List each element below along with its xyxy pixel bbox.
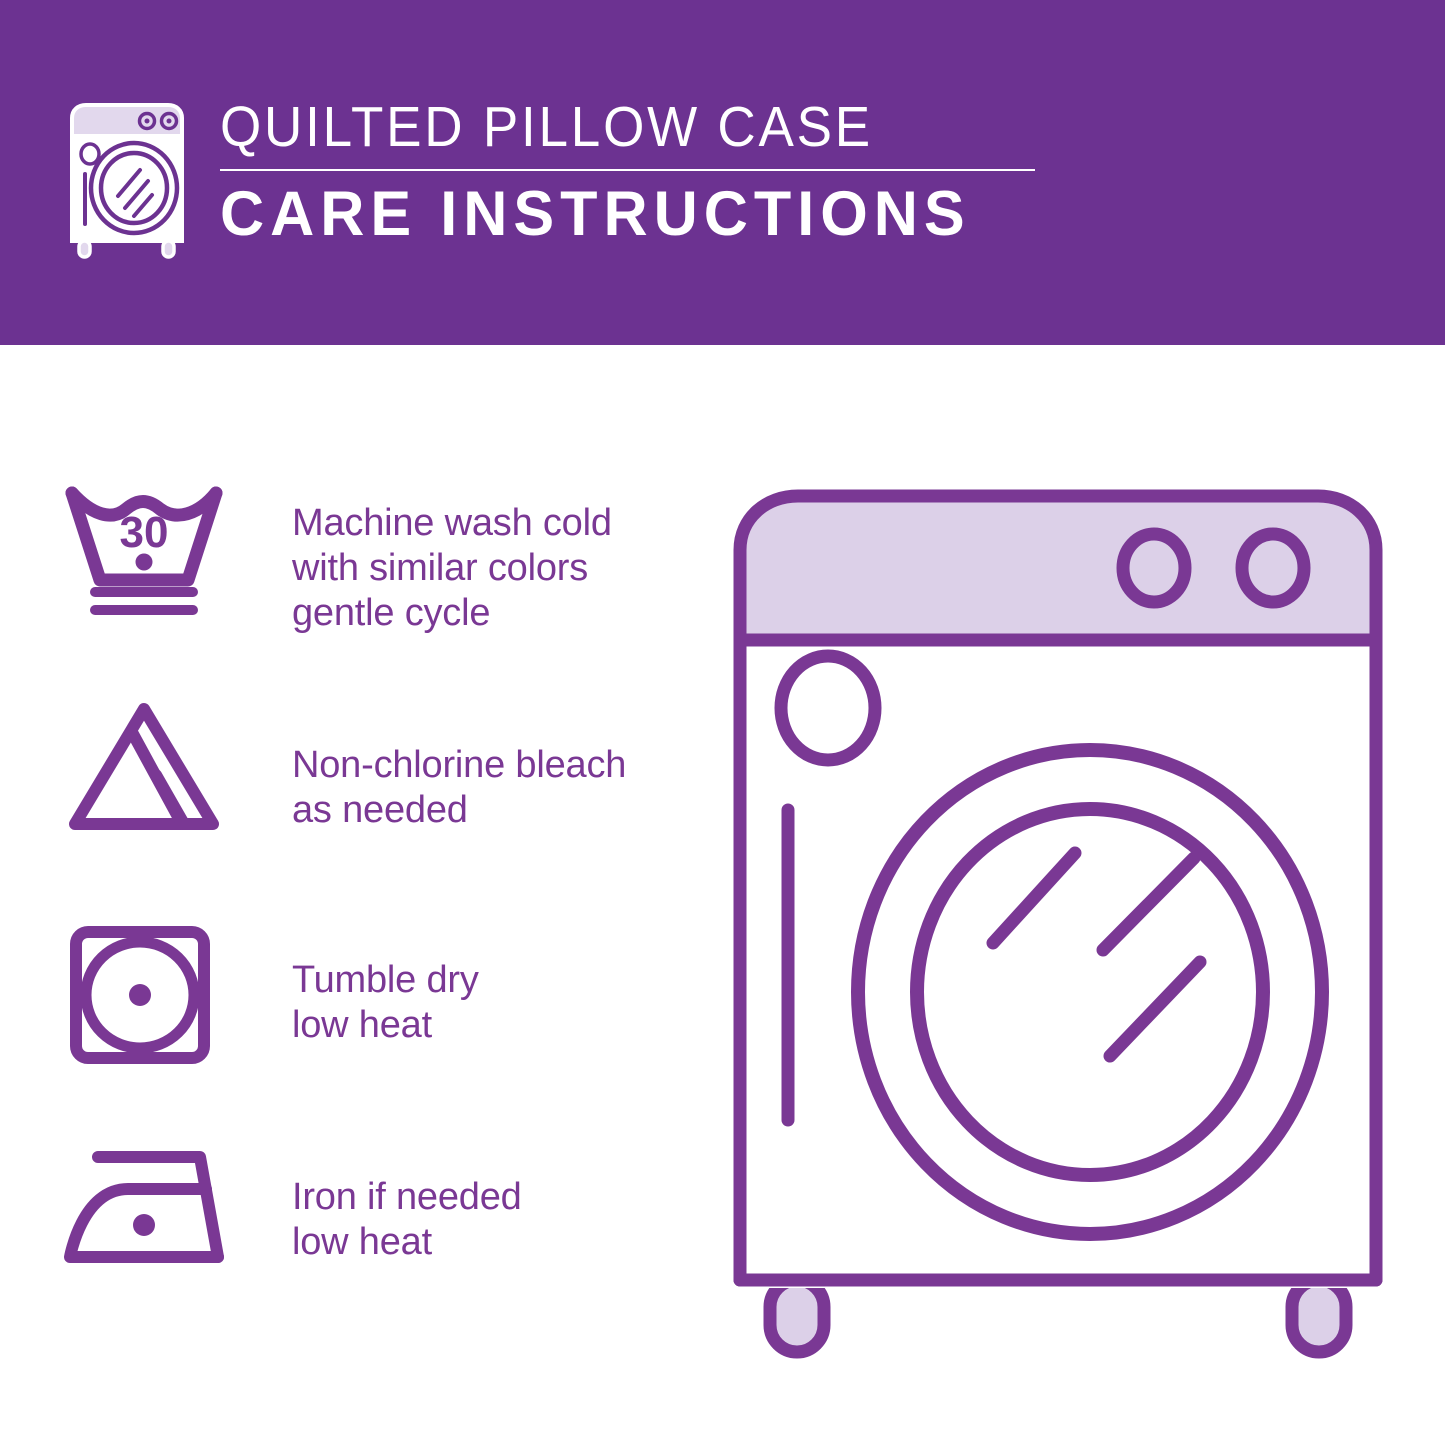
list-item: Non-chlorine bleach as needed xyxy=(60,697,700,912)
tumble-dry-icon xyxy=(60,920,260,1100)
care-line: with similar colors xyxy=(292,546,700,591)
machine-foot-right xyxy=(1292,1280,1346,1352)
care-line: low heat xyxy=(292,1220,700,1265)
list-item: Iron if needed low heat xyxy=(60,1137,700,1352)
body-area: 30 Machine wash cold with similar colors… xyxy=(0,345,1445,1445)
care-line: as needed xyxy=(292,788,700,833)
care-line: Machine wash cold xyxy=(292,501,700,546)
care-line: Non-chlorine bleach xyxy=(292,743,700,788)
machine-foot-left xyxy=(770,1280,824,1352)
care-line: gentle cycle xyxy=(292,591,700,636)
care-line: Tumble dry xyxy=(292,958,700,1003)
wash-temperature-label: 30 xyxy=(120,508,169,557)
control-knob-left xyxy=(1123,534,1185,602)
iron-icon xyxy=(60,1137,260,1317)
header-band: QUILTED PILLOW CASE CARE INSTRUCTIONS xyxy=(0,0,1445,345)
header-title-block: QUILTED PILLOW CASE CARE INSTRUCTIONS xyxy=(220,92,1040,251)
care-instruction-text: Machine wash cold with similar colors ge… xyxy=(260,475,700,636)
page-title-product: QUILTED PILLOW CASE xyxy=(220,92,983,162)
page-title-care-instructions: CARE INSTRUCTIONS xyxy=(220,177,1015,251)
washing-machine-icon xyxy=(62,96,192,261)
wash-tub-30-icon: 30 xyxy=(60,475,260,655)
control-knob-right xyxy=(1242,534,1304,602)
care-line: Iron if needed xyxy=(292,1175,700,1220)
washing-machine-illustration xyxy=(718,480,1398,1370)
care-line: low heat xyxy=(292,1003,700,1048)
bleach-triangle-icon xyxy=(60,697,260,877)
list-item: 30 Machine wash cold with similar colors… xyxy=(60,475,700,690)
header-content: QUILTED PILLOW CASE CARE INSTRUCTIONS xyxy=(62,96,1062,261)
care-instruction-text: Non-chlorine bleach as needed xyxy=(260,697,700,833)
care-instruction-text: Tumble dry low heat xyxy=(260,920,700,1048)
care-instructions-infographic: QUILTED PILLOW CASE CARE INSTRUCTIONS 30 xyxy=(0,0,1445,1445)
header-divider xyxy=(220,169,1035,171)
care-instruction-text: Iron if needed low heat xyxy=(260,1137,700,1265)
list-item: Tumble dry low heat xyxy=(60,920,700,1135)
